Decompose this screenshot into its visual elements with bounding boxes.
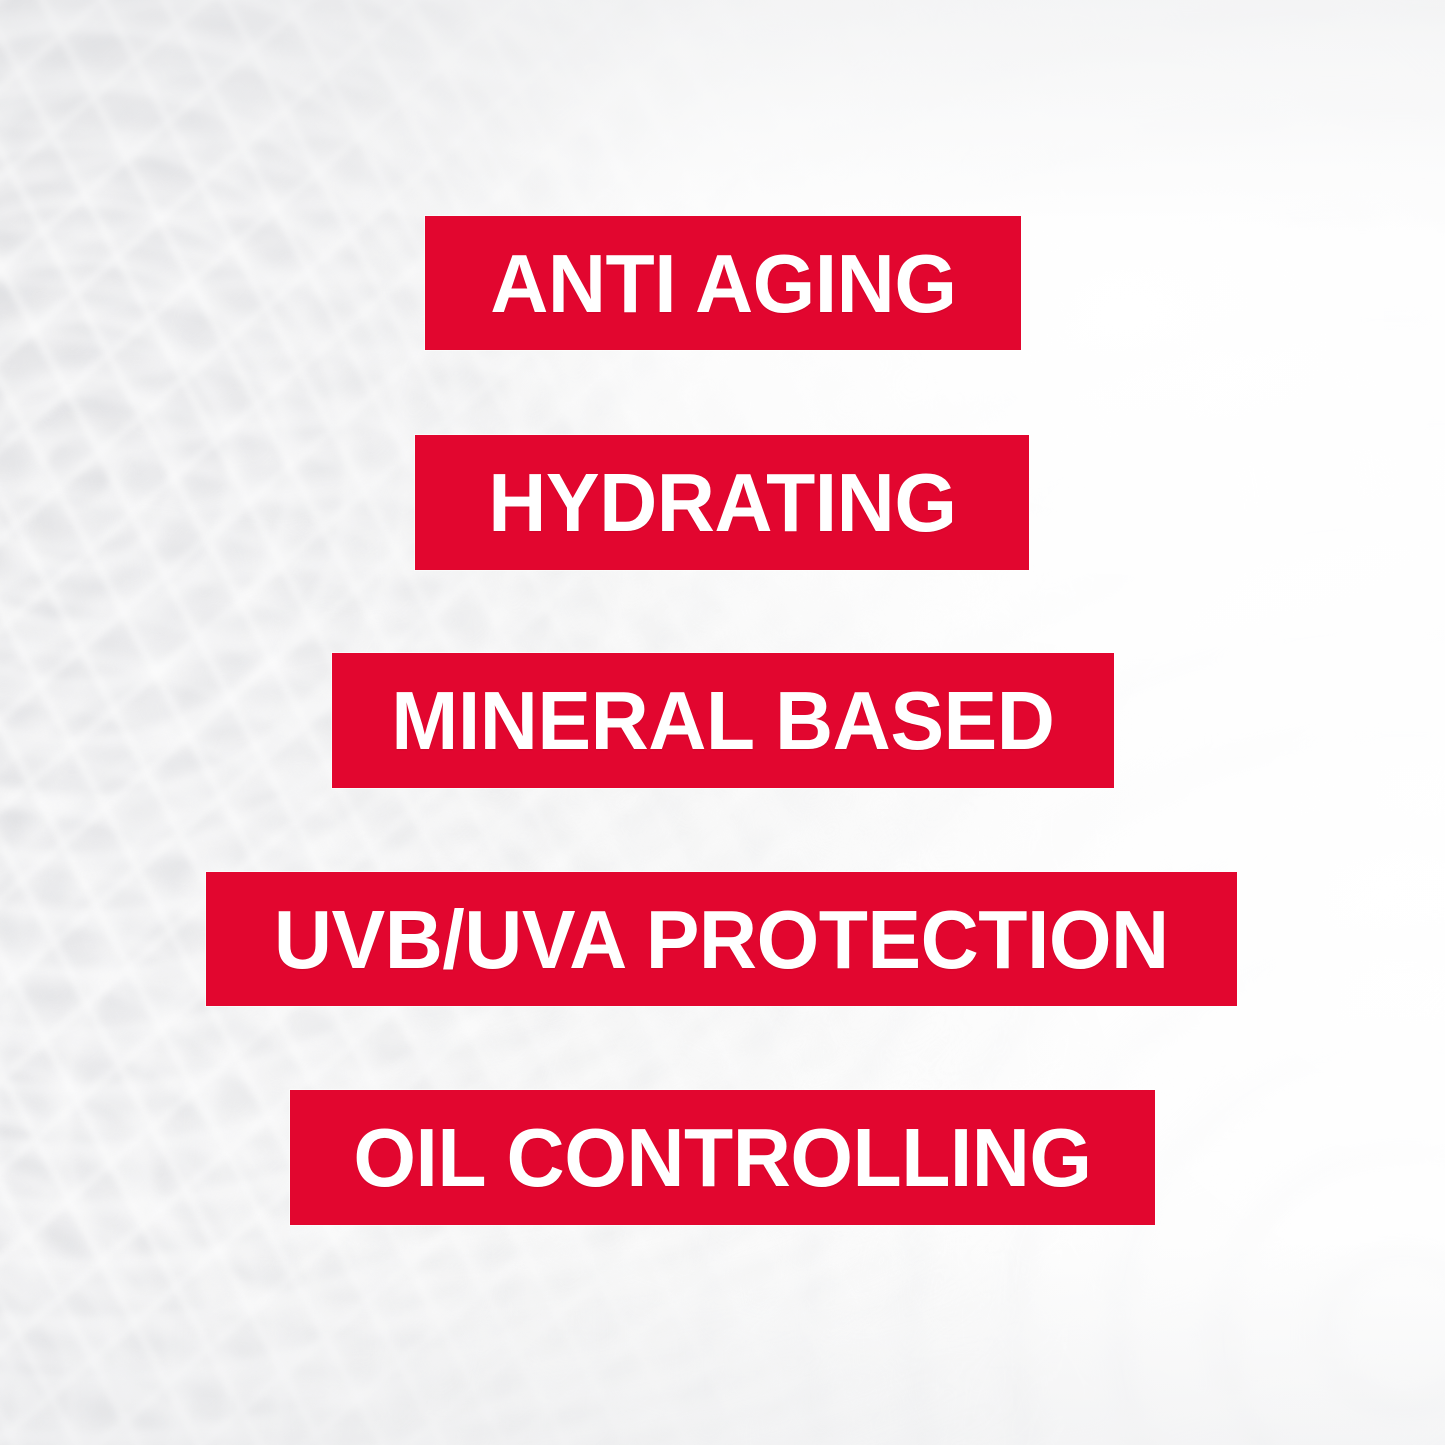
- benefit-banner-hydrating: HYDRATING: [415, 435, 1029, 570]
- benefit-label-mineral-based: MINERAL BASED: [391, 679, 1054, 762]
- benefit-banner-oil-controlling: OIL CONTROLLING: [290, 1090, 1155, 1225]
- product-benefits-graphic: ANTI AGING HYDRATING MINERAL BASED UVB/U…: [0, 0, 1445, 1445]
- benefit-banner-uvb-uva-protection: UVB/UVA PROTECTION: [206, 872, 1237, 1006]
- benefit-label-uvb-uva-protection: UVB/UVA PROTECTION: [274, 898, 1169, 981]
- benefit-banner-mineral-based: MINERAL BASED: [332, 653, 1114, 788]
- benefit-label-oil-controlling: OIL CONTROLLING: [353, 1116, 1091, 1199]
- benefit-banner-anti-aging: ANTI AGING: [425, 216, 1021, 350]
- benefit-label-anti-aging: ANTI AGING: [490, 242, 956, 325]
- benefit-label-hydrating: HYDRATING: [488, 461, 956, 544]
